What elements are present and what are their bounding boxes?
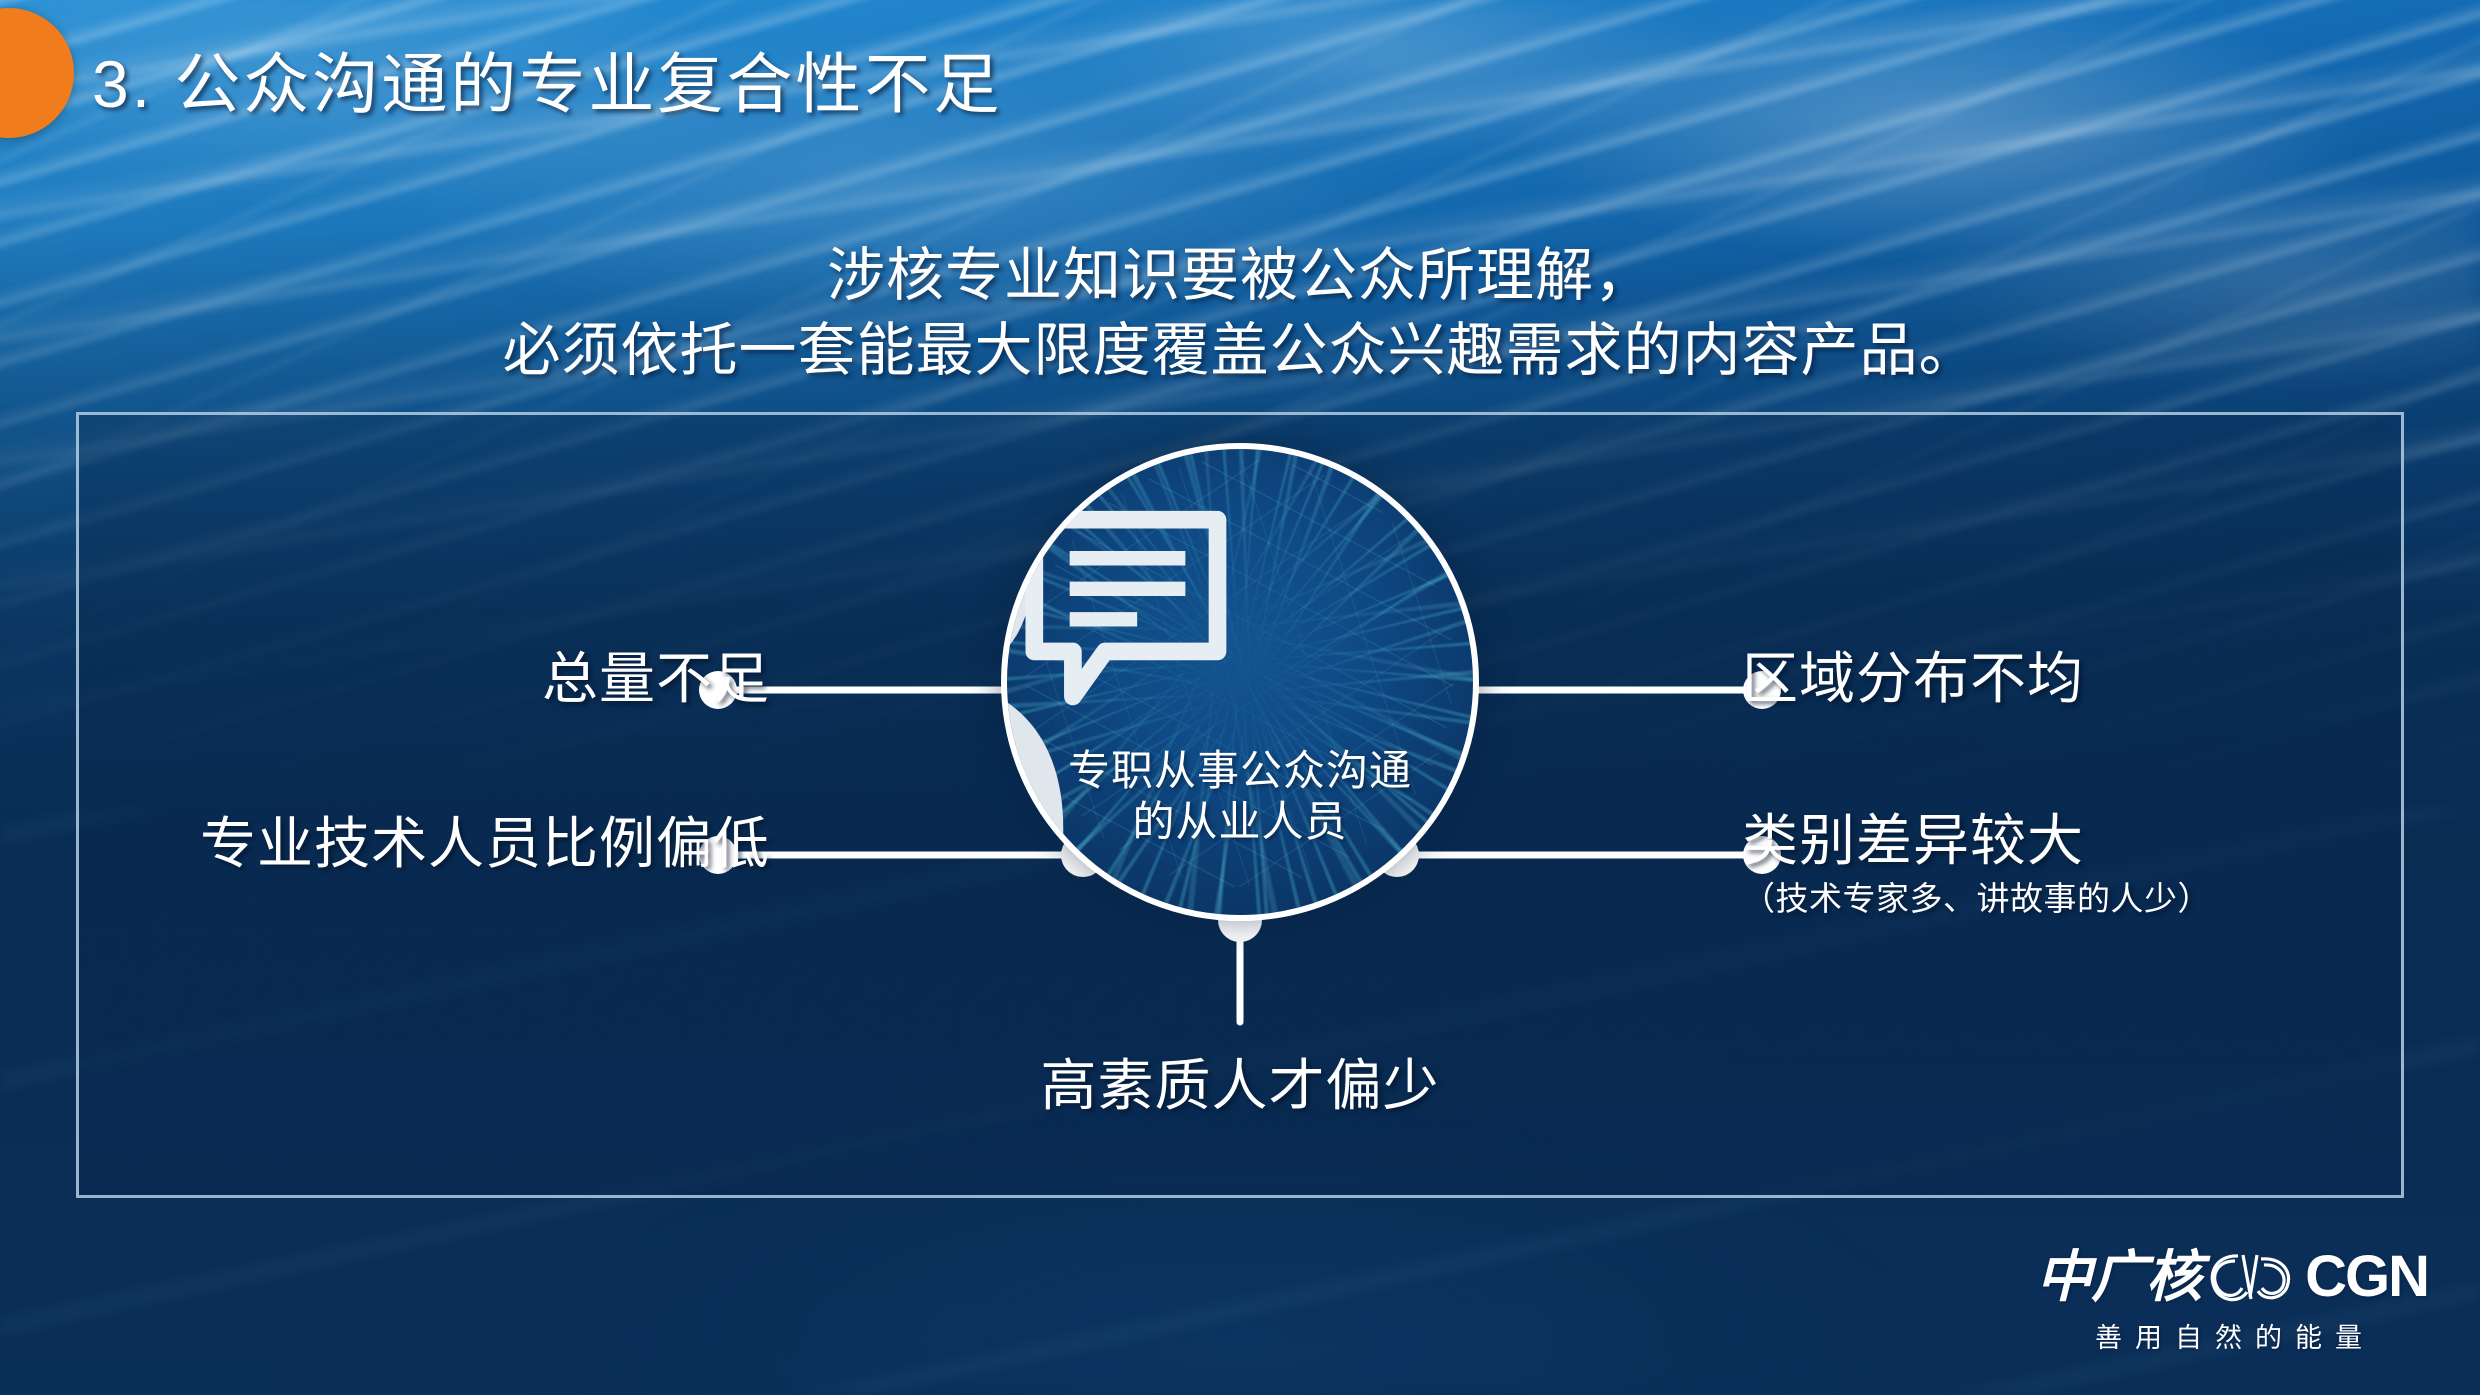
node-label-total-text: 总量不足 — [542, 648, 770, 711]
node-label-ratio-text: 专业技术人员比例偏低 — [200, 813, 770, 876]
node-label-region: 区域分布不均 — [1742, 648, 2084, 711]
cgn-logo-row: 中广核 CGN — [2036, 1246, 2428, 1308]
cgn-logo-chinese: 中广核 — [2036, 1249, 2201, 1305]
cgn-logo-mark-icon — [2205, 1247, 2301, 1307]
hub-circle: 专职从事公众沟通 的从业人员 — [1001, 443, 1479, 921]
cgn-logo-english: CGN — [2305, 1248, 2428, 1306]
node-label-quality-text: 高素质人才偏少 — [0, 1055, 2480, 1118]
node-label-category: 类别差异较大 （技术专家多、讲故事的人少） — [1742, 810, 2211, 918]
node-label-ratio: 专业技术人员比例偏低 — [200, 813, 770, 876]
node-label-region-text: 区域分布不均 — [1742, 648, 2084, 711]
hub-label: 专职从事公众沟通 的从业人员 — [1007, 745, 1473, 847]
hub-label-line-2: 的从业人员 — [1007, 796, 1473, 847]
slide-root: 3. 公众沟通的专业复合性不足 涉核专业知识要被公众所理解， 必须依托一套能最大… — [0, 0, 2480, 1395]
node-label-quality: 高素质人才偏少 — [0, 1055, 2480, 1118]
hub-label-line-1: 专职从事公众沟通 — [1007, 745, 1473, 796]
node-label-category-text: 类别差异较大 — [1742, 810, 2211, 873]
hub-and-spoke-diagram: 专职从事公众沟通 的从业人员 总量不足 专业技术人员比例偏低 区域分布不均 类别… — [0, 0, 2480, 1395]
node-label-total: 总量不足 — [542, 648, 770, 711]
node-label-category-subtext: （技术专家多、讲故事的人少） — [1742, 879, 2211, 919]
cgn-logo: 中广核 CGN 善用自然的能量 — [2036, 1246, 2428, 1355]
cgn-logo-tagline: 善用自然的能量 — [2036, 1316, 2428, 1355]
